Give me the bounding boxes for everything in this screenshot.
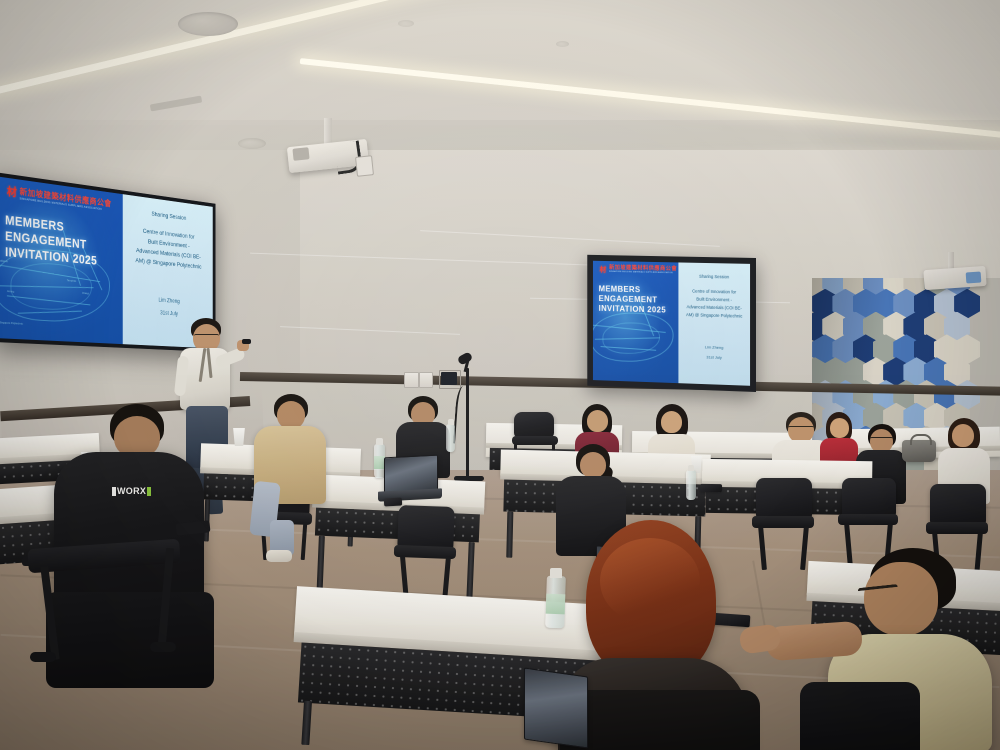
seminar-room-photo: Woodlands Jurong Tampines Changi Singapo… — [0, 0, 1000, 750]
projector-mount-pole — [324, 118, 332, 145]
slide-left-panel: Woodlands Jurong Tampines Changi Singapo… — [0, 177, 123, 345]
ceiling-speaker — [398, 20, 414, 27]
worx-logo-text: WORX — [116, 487, 147, 496]
head — [864, 562, 938, 636]
logo-english-name: SINGAPORE BUILDING MATERIALS SUPPLIERS A… — [609, 272, 677, 275]
hair-highlight — [600, 538, 700, 624]
slide-title-line-3: INVITATION 2025 — [599, 304, 666, 315]
logo-mark-character: 材 — [7, 187, 17, 199]
bottle-cap — [448, 419, 454, 425]
laptop-centre[interactable] — [378, 456, 440, 504]
map-label: Woodlands — [0, 260, 8, 264]
association-logo: 材 新加坡建築材料供應商公會 SINGAPORE BUILDING MATERI… — [600, 266, 678, 276]
ceiling-projector-left — [288, 118, 372, 178]
attendee-lower-body — [46, 592, 214, 688]
slide-secondary: 材 新加坡建築材料供應商公會 SINGAPORE BUILDING MATERI… — [593, 261, 750, 386]
singapore-map-graphic — [593, 308, 679, 378]
slide-speaker-name: Lim Zheng — [679, 344, 751, 352]
association-logo: 材 新加坡建築材料供應商公會 SINGAPORE BUILDING MATERI… — [7, 186, 112, 212]
head — [830, 418, 849, 438]
slide-title-line-1: MEMBERS — [599, 284, 641, 294]
projector-lens — [966, 271, 982, 283]
laptop-bottom-left[interactable] — [524, 672, 594, 750]
wall-power-outlet[interactable] — [404, 372, 419, 388]
bottle-cap — [688, 465, 694, 471]
head — [587, 410, 608, 432]
chair-backrest — [397, 505, 455, 551]
glasses-icon — [194, 334, 219, 339]
bottle-cap — [376, 438, 383, 445]
slide-left-panel: 材 新加坡建築材料供應商公會 SINGAPORE BUILDING MATERI… — [593, 261, 679, 383]
chair-backrest — [514, 412, 554, 438]
laptop-screen — [524, 668, 588, 749]
slide-topic-line-4: AM) @ Singapore Polytechnic — [679, 312, 751, 320]
projector-lens — [292, 147, 309, 161]
slide-date: 31st July — [679, 353, 751, 361]
chair-foreground-right[interactable] — [800, 682, 920, 750]
table-leg — [506, 512, 513, 558]
water-bottle[interactable] — [686, 470, 696, 500]
glasses-icon — [870, 437, 893, 442]
ceiling-speaker — [238, 138, 266, 149]
head — [661, 411, 682, 433]
map-label: Jurong — [7, 291, 14, 294]
microphone-stand[interactable] — [452, 352, 492, 482]
slide-session-label: Sharing Session — [679, 273, 751, 280]
slide-session-label: Sharing Session — [123, 207, 213, 226]
slide-topic-line-3: Advanced Materials (COI BE- — [679, 304, 751, 312]
secondary-projection-screen: 材 新加坡建築材料供應商公會 SINGAPORE BUILDING MATERI… — [587, 255, 756, 392]
head — [277, 401, 305, 429]
chair-backrest — [842, 478, 896, 518]
logo-mark-character: 材 — [600, 266, 607, 273]
ceiling-speaker — [178, 12, 238, 36]
ceiling-projector-right — [924, 252, 994, 306]
chair-backrest — [930, 484, 986, 526]
projector-power-box — [355, 155, 374, 177]
attendee-tan-tshirt — [252, 394, 330, 544]
chair-caster — [150, 642, 176, 652]
chair-backrest — [756, 478, 812, 520]
slide-speaker-name: Lim Zheng — [123, 294, 213, 308]
smartphone[interactable] — [384, 498, 402, 507]
head — [952, 424, 974, 447]
glasses-icon — [788, 426, 814, 431]
map-label: Singapore Polytechnic — [0, 322, 23, 326]
slide-topic-line-2: Built Environment - — [679, 296, 751, 304]
worx-shirt-logo: WORX — [110, 486, 153, 497]
map-label: Changi — [82, 293, 89, 296]
worx-logo-bar-right — [147, 487, 151, 496]
presentation-clicker[interactable] — [242, 339, 251, 344]
handbag-handle — [910, 434, 932, 445]
water-bottle[interactable] — [446, 424, 455, 452]
slide-right-panel: Sharing Session Centre of Innovation for… — [679, 262, 751, 385]
ceiling-soffit — [0, 0, 1000, 120]
wall-power-outlet[interactable] — [419, 372, 433, 388]
chair-caster — [30, 652, 56, 662]
table-leg — [301, 701, 312, 745]
head — [580, 452, 606, 478]
ceiling-speaker — [556, 41, 569, 47]
smartphone[interactable] — [700, 484, 722, 492]
sneaker — [266, 550, 292, 562]
mic-cable — [453, 386, 473, 445]
slide-topic-line-1: Centre of Innovation for — [679, 288, 751, 295]
